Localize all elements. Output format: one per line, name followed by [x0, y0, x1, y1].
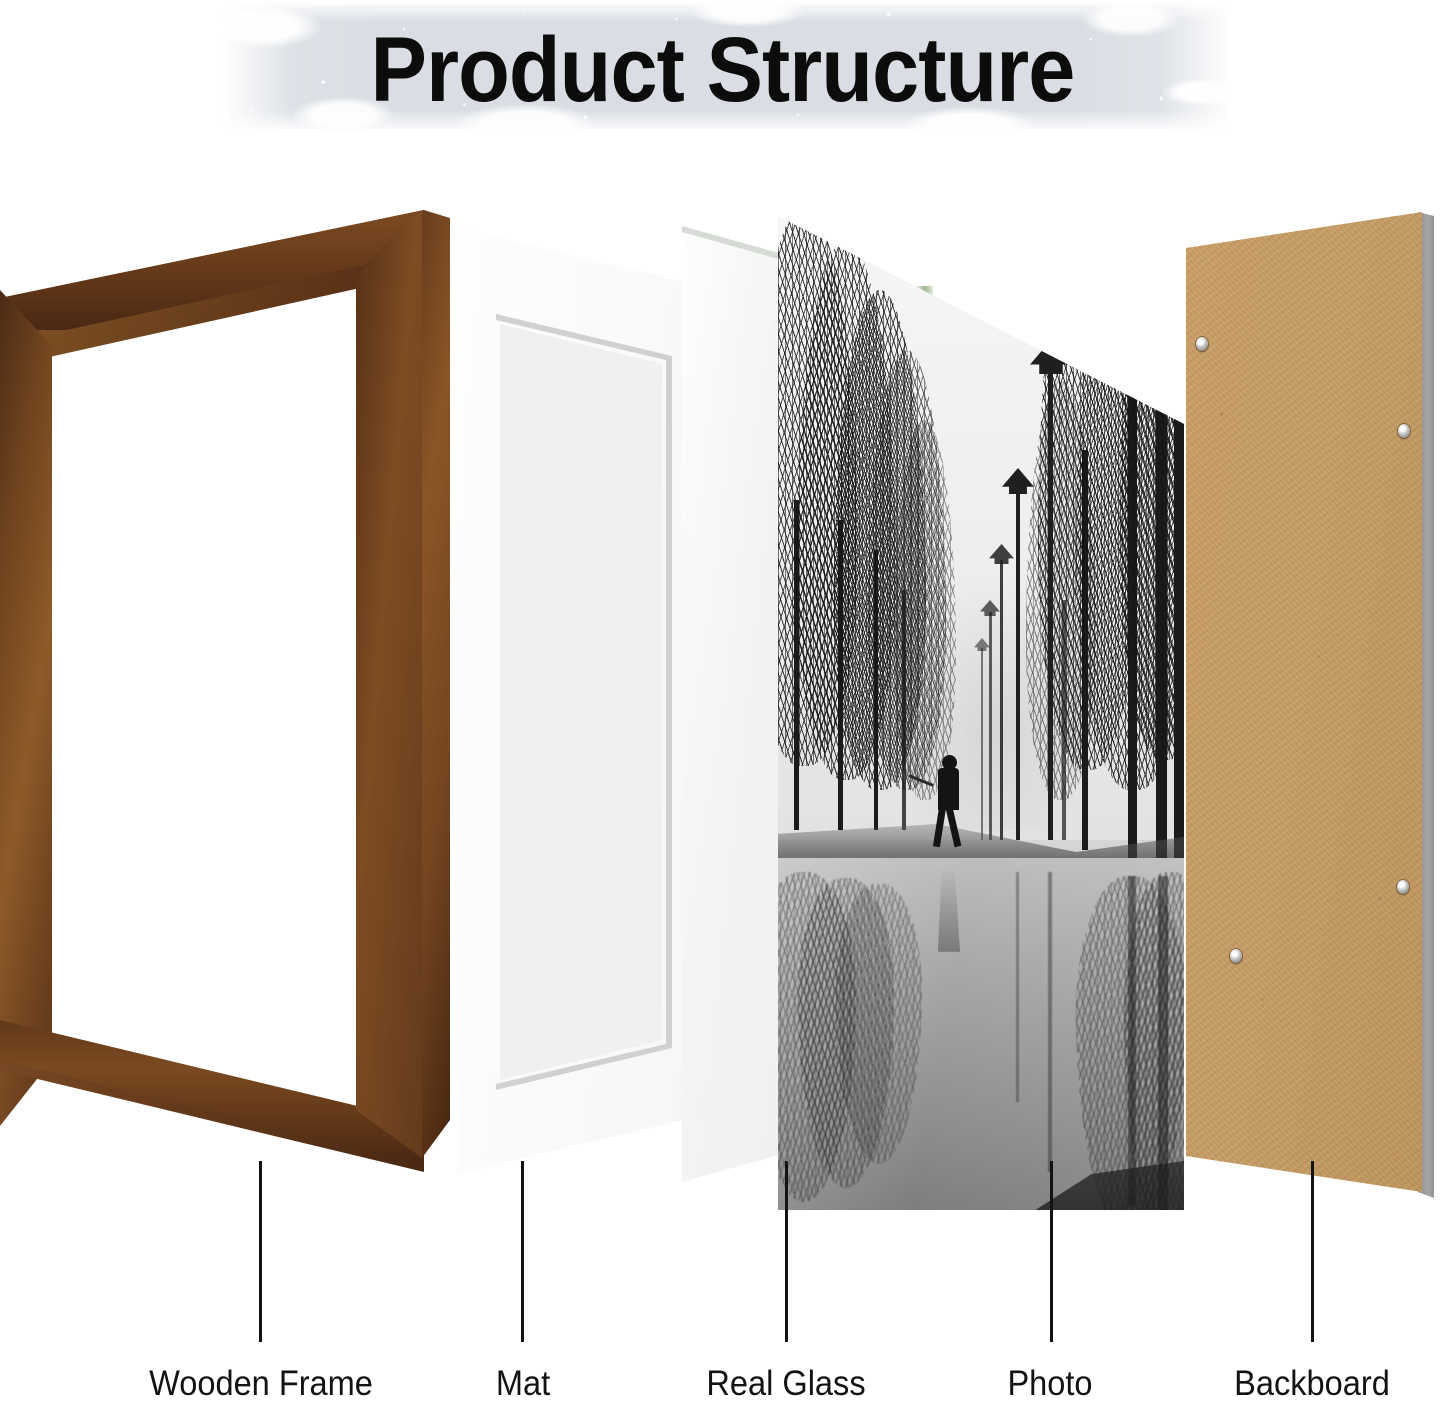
callout-label-real-glass: Real Glass — [671, 1366, 902, 1401]
leader-line-real-glass — [785, 1161, 788, 1342]
callout-label-mat: Mat — [430, 1366, 616, 1401]
leader-line-wooden-frame — [259, 1161, 262, 1342]
leader-line-mat — [521, 1161, 524, 1342]
callout-label-backboard: Backboard — [1199, 1366, 1426, 1401]
leader-line-photo — [1050, 1161, 1053, 1342]
leader-line-backboard — [1311, 1161, 1314, 1342]
callout-label-photo: Photo — [959, 1366, 1141, 1401]
callout-label-wooden-frame: Wooden Frame — [122, 1366, 401, 1401]
callout-group: Wooden Frame Mat Real Glass Photo Backbo… — [0, 0, 1445, 1418]
